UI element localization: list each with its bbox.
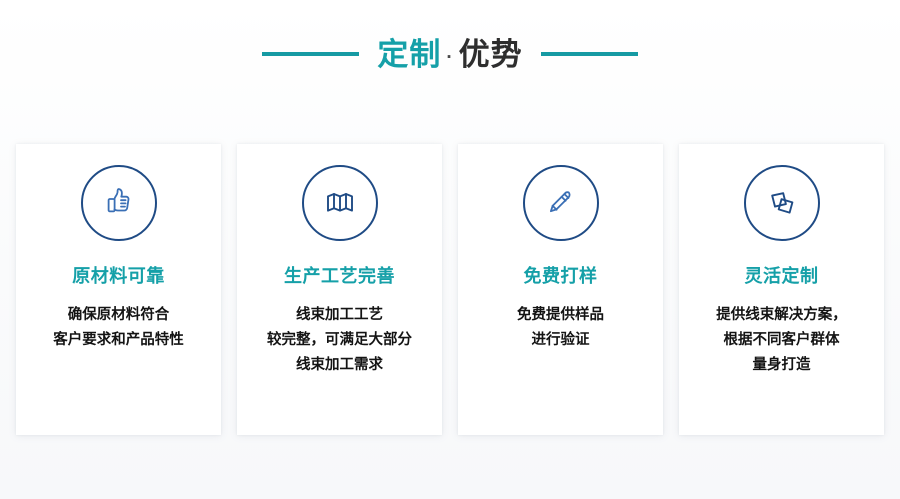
promo-section: 定制 · 优势 原材料可靠 确保原材料符合 客户要求和产品特性 (0, 0, 900, 499)
feature-card-list: 原材料可靠 确保原材料符合 客户要求和产品特性 生产工艺完善 线束加工工艺 较完… (16, 144, 884, 435)
feature-card[interactable]: 免费打样 免费提供样品 进行验证 (458, 144, 663, 435)
feature-card[interactable]: 原材料可靠 确保原材料符合 客户要求和产品特性 (16, 144, 221, 435)
icon-ring (523, 165, 599, 241)
icon-ring (302, 165, 378, 241)
title-separator-dot: · (446, 48, 453, 67)
title-rule-left (262, 52, 359, 56)
thumbs-up-icon (99, 183, 139, 223)
title-rule-right (541, 52, 638, 56)
card-body: 线束加工工艺 较完整，可满足大部分 线束加工需求 (259, 303, 420, 378)
feature-card[interactable]: 生产工艺完善 线束加工工艺 较完整，可满足大部分 线束加工需求 (237, 144, 442, 435)
title-main-text: 优势 (459, 39, 523, 70)
card-heading: 灵活定制 (745, 267, 819, 285)
icon-ring (81, 165, 157, 241)
card-heading: 生产工艺完善 (284, 267, 395, 285)
folded-map-icon (320, 183, 360, 223)
icon-ring (744, 165, 820, 241)
stacked-sheets-icon (762, 183, 802, 223)
card-heading: 免费打样 (524, 267, 598, 285)
card-body: 提供线束解决方案， 根据不同客户群体 量身打造 (708, 303, 855, 378)
page-title: 定制 · 优势 (377, 39, 522, 70)
card-heading: 原材料可靠 (72, 267, 165, 285)
pencil-icon (541, 183, 581, 223)
card-body: 免费提供样品 进行验证 (509, 303, 612, 353)
title-accent-text: 定制 (377, 39, 441, 70)
feature-card[interactable]: 灵活定制 提供线束解决方案， 根据不同客户群体 量身打造 (679, 144, 884, 435)
section-title: 定制 · 优势 (0, 28, 900, 80)
card-body: 确保原材料符合 客户要求和产品特性 (45, 303, 192, 353)
